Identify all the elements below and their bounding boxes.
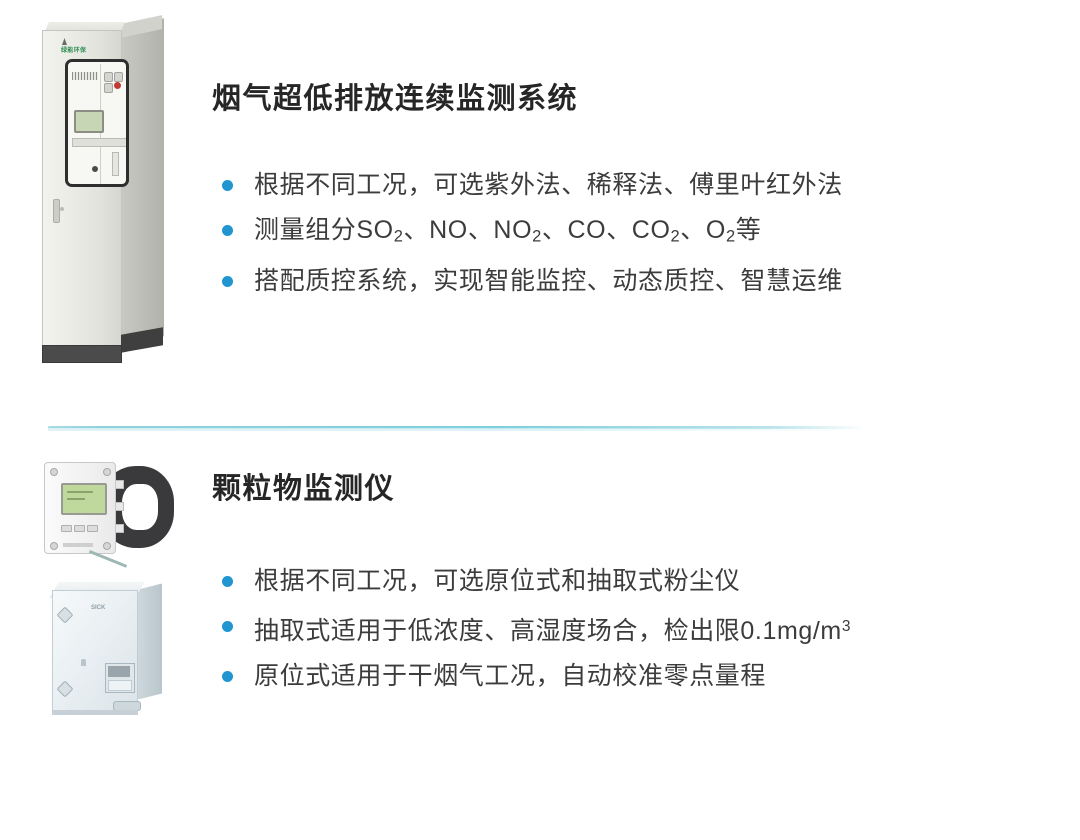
- transmitter-lcd-display: [61, 483, 107, 515]
- transmitter-screw-tr-icon: [103, 468, 111, 476]
- cabinet-base-plinth: [42, 345, 122, 363]
- bullet-list-gas-cems: 根据不同工况，可选紫外法、稀释法、傅里叶红外法 测量组分SO2、NO、NO2、C…: [212, 163, 1062, 305]
- slide-root: 绿能环保: [0, 0, 1080, 840]
- bullet-text: 根据不同工况，可选紫外法、稀释法、傅里叶红外法: [254, 171, 843, 199]
- bullet-item: 根据不同工况，可选紫外法、稀释法、傅里叶红外法: [212, 163, 1062, 208]
- transmitter-lcd-line-2: [67, 498, 85, 500]
- bullet-text: 抽取式适用于低浓度、高湿度场合，检出限0.1mg/m3: [254, 617, 851, 645]
- cabinet-door-lock-icon: [60, 207, 64, 211]
- bullet-marker-icon: [222, 180, 233, 191]
- transmitter-screw-br-icon: [103, 542, 111, 550]
- section-gas-cems: 绿能环保: [0, 20, 1080, 400]
- cabinet-knob-1: [104, 72, 113, 82]
- cabinet-door-handle: [53, 199, 60, 223]
- transmitter-key-2[interactable]: [74, 525, 85, 532]
- transmitter-lcd-line-1: [67, 491, 93, 493]
- transmitter-screw-bl-icon: [50, 542, 58, 550]
- cabinet-sample-tube: [112, 152, 119, 176]
- bullet-text: 测量组分SO2、NO、NO2、CO、CO2、O2等: [254, 216, 761, 244]
- cabinet-viewing-window: [65, 59, 129, 187]
- cabinet-front-door: 绿能环保: [42, 30, 122, 352]
- cabinet-illustration: 绿能环保: [28, 20, 188, 370]
- cabinet-terminal-block: [72, 72, 98, 80]
- enclosure-display-readout: [108, 666, 130, 677]
- enclosure-latch-top[interactable]: [57, 607, 74, 624]
- enclosure-display-keys: [108, 680, 132, 691]
- enclosure-latch-bottom[interactable]: [57, 681, 74, 698]
- section-title-gas-cems: 烟气超低排放连续监测系统: [212, 82, 1062, 117]
- cabinet-knob-2: [114, 72, 123, 82]
- bullet-list-particulate-monitor: 根据不同工况，可选原位式和抽取式粉尘仪 抽取式适用于低浓度、高湿度场合，检出限0…: [212, 559, 1062, 699]
- bullet-marker-icon: [222, 576, 233, 587]
- bullet-marker-icon: [222, 276, 233, 287]
- transmitter-bracket-cutout: [122, 484, 158, 530]
- bullet-item: 测量组分SO2、NO、NO2、CO、CO2、O2等: [212, 208, 1062, 260]
- bullet-item: 根据不同工况，可选原位式和抽取式粉尘仪: [212, 559, 1062, 604]
- enclosure-bottom-edge: [52, 710, 138, 715]
- bullet-text: 根据不同工况，可选原位式和抽取式粉尘仪: [254, 567, 740, 595]
- enclosure-display-panel: [105, 663, 135, 693]
- transmitter-illustration: [36, 458, 196, 564]
- enclosure-keyhole-icon: [81, 659, 86, 666]
- text-block-particulate-monitor: 颗粒物监测仪 根据不同工况，可选原位式和抽取式粉尘仪 抽取式适用于低浓度、高湿度…: [212, 452, 1062, 699]
- bullet-item: 搭配质控系统，实现智能监控、动态质控、智慧运维: [212, 259, 1062, 304]
- cabinet-logo-mark-icon: [62, 38, 67, 45]
- cabinet-analyzer-display: [74, 110, 104, 133]
- bullet-item: 原位式适用于干烟气工况，自动校准零点量程: [212, 654, 1062, 699]
- transmitter-key-3[interactable]: [87, 525, 98, 532]
- figure-gas-analyzer-cabinet: 绿能环保: [20, 20, 200, 370]
- bullet-text: 搭配质控系统，实现智能监控、动态质控、智慧运维: [254, 267, 843, 295]
- transmitter-housing: [44, 462, 116, 554]
- bullet-marker-icon: [222, 225, 233, 236]
- cabinet-shelf-strip: [72, 138, 128, 147]
- bullet-item: 抽取式适用于低浓度、高湿度场合，检出限0.1mg/m3: [212, 604, 1062, 654]
- enclosure-brand-logo: SICK: [91, 605, 105, 611]
- transmitter-screw-tl-icon: [50, 468, 58, 476]
- enclosure-illustration: SICK: [40, 578, 200, 728]
- bullet-marker-icon: [222, 671, 233, 682]
- cabinet-logo-text: 绿能环保: [61, 45, 86, 54]
- cabinet-valve-icon: [92, 166, 98, 172]
- figure-particulate-monitor: SICK: [20, 452, 200, 728]
- section-divider: [48, 426, 866, 429]
- transmitter-nameplate: [63, 543, 93, 547]
- section-title-particulate-monitor: 颗粒物监测仪: [212, 472, 1062, 507]
- enclosure-front-door: SICK: [52, 590, 138, 712]
- cabinet-indicator-light-icon: [114, 82, 121, 89]
- bullet-marker-icon: [222, 621, 233, 632]
- bullet-text: 原位式适用于干烟气工况，自动校准零点量程: [254, 662, 766, 690]
- text-block-gas-cems: 烟气超低排放连续监测系统 根据不同工况，可选紫外法、稀释法、傅里叶红外法 测量组…: [212, 20, 1062, 304]
- section-particulate-monitor: SICK 颗粒物监测仪 根据不同工: [0, 452, 1080, 782]
- transmitter-key-1[interactable]: [61, 525, 72, 532]
- enclosure-side-panel: [136, 584, 162, 700]
- cabinet-knob-3: [104, 83, 113, 93]
